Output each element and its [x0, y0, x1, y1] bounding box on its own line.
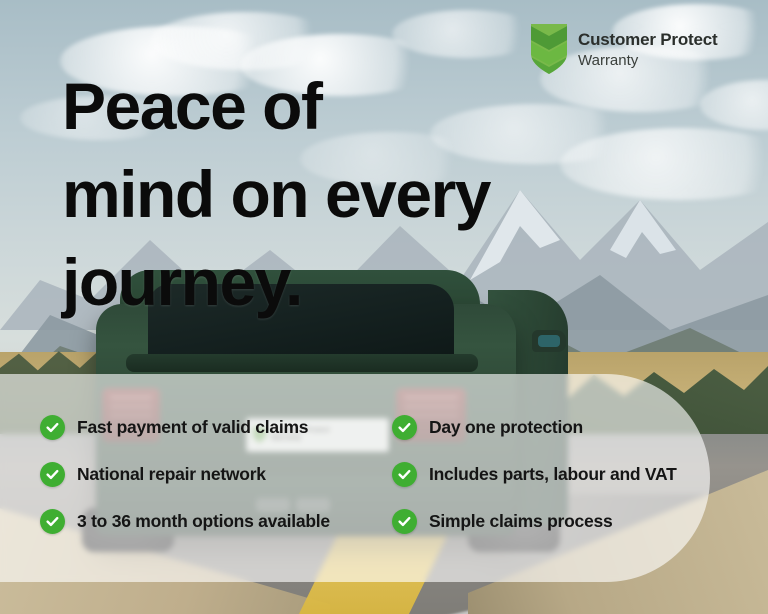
benefit-item: Includes parts, labour and VAT — [392, 462, 730, 487]
benefits-list: Fast payment of valid claims Day one pro… — [40, 404, 730, 545]
check-circle-icon — [40, 462, 65, 487]
check-circle-icon — [392, 462, 417, 487]
benefit-label: National repair network — [77, 464, 266, 485]
benefit-item: 3 to 36 month options available — [40, 509, 392, 534]
check-circle-icon — [392, 415, 417, 440]
check-circle-icon — [40, 415, 65, 440]
benefit-item: Day one protection — [392, 415, 730, 440]
side-mirror-glass — [538, 335, 560, 347]
benefit-label: Includes parts, labour and VAT — [429, 464, 677, 485]
brand-logo: Customer Protect Warranty — [531, 24, 717, 74]
check-circle-icon — [40, 509, 65, 534]
benefit-item: Simple claims process — [392, 509, 730, 534]
benefit-label: Fast payment of valid claims — [77, 417, 308, 438]
promo-banner: Customer Protect Warranty Peace of mind … — [0, 0, 768, 614]
logo-subtitle: Warranty — [578, 53, 717, 68]
rear-spoiler — [126, 354, 478, 372]
cloud-icon — [392, 10, 542, 58]
benefit-label: Day one protection — [429, 417, 583, 438]
benefit-label: Simple claims process — [429, 511, 612, 532]
benefit-label: 3 to 36 month options available — [77, 511, 330, 532]
shield-chevron-icon — [531, 24, 567, 74]
page-title: Peace of mind on every journey. — [62, 62, 722, 326]
logo-title: Customer Protect — [578, 31, 717, 48]
benefit-item: National repair network — [40, 462, 392, 487]
check-circle-icon — [392, 509, 417, 534]
benefit-item: Fast payment of valid claims — [40, 415, 392, 440]
